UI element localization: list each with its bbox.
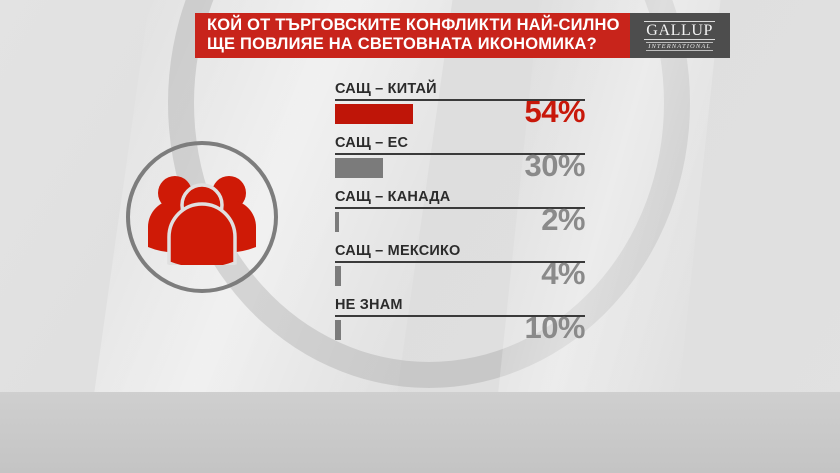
- chart-row-barline: 54%: [335, 104, 585, 126]
- chart-row: НЕ ЗНАМ 10%: [335, 296, 585, 342]
- chart-value-label: 2%: [541, 204, 585, 235]
- chart-value-label: 10%: [524, 312, 585, 343]
- gallup-logo-wordmark: GALLUP: [644, 21, 715, 40]
- title-text-block: КОЙ ОТ ТЪРГОВСКИТЕ КОНФЛИКТИ НАЙ-СИЛНО Щ…: [195, 13, 630, 58]
- chart-row: САЩ – ЕС 30%: [335, 134, 585, 180]
- gallup-logo-subtitle: INTERNATIONAL: [646, 42, 713, 51]
- people-group-glyph: [142, 169, 262, 265]
- chart-row-barline: 2%: [335, 212, 585, 234]
- chart-row: САЩ – КАНАДА 2%: [335, 188, 585, 234]
- chart-value-label: 54%: [524, 96, 585, 127]
- chart-row: САЩ – КИТАЙ 54%: [335, 80, 585, 126]
- chart-row-barline: 10%: [335, 320, 585, 342]
- people-group-icon: [126, 141, 278, 293]
- chart-row-barline: 30%: [335, 158, 585, 180]
- chart-bar: [335, 158, 383, 178]
- chart-value-label: 4%: [541, 258, 585, 289]
- page-title-line-1: КОЙ ОТ ТЪРГОВСКИТЕ КОНФЛИКТИ НАЙ-СИЛНО: [207, 16, 620, 35]
- chart-bar: [335, 212, 339, 232]
- chart-row-barline: 4%: [335, 266, 585, 288]
- page-title-line-2: ЩЕ ПОВЛИЯЕ НА СВЕТОВНАТА ИКОНОМИКА?: [207, 35, 620, 54]
- gallup-logo: GALLUP INTERNATIONAL: [630, 13, 730, 58]
- chart-bar: [335, 266, 341, 286]
- chart-value-label: 30%: [524, 150, 585, 181]
- infographic-canvas: КОЙ ОТ ТЪРГОВСКИТЕ КОНФЛИКТИ НАЙ-СИЛНО Щ…: [0, 0, 840, 473]
- chart-bar: [335, 320, 341, 340]
- title-banner: КОЙ ОТ ТЪРГОВСКИТЕ КОНФЛИКТИ НАЙ-СИЛНО Щ…: [195, 13, 730, 58]
- chart-row: САЩ – МЕКСИКО 4%: [335, 242, 585, 288]
- background-bottom-band: [0, 392, 840, 473]
- results-chart: САЩ – КИТАЙ 54% САЩ – ЕС 30% САЩ – КАНАД…: [335, 80, 585, 350]
- chart-bar: [335, 104, 413, 124]
